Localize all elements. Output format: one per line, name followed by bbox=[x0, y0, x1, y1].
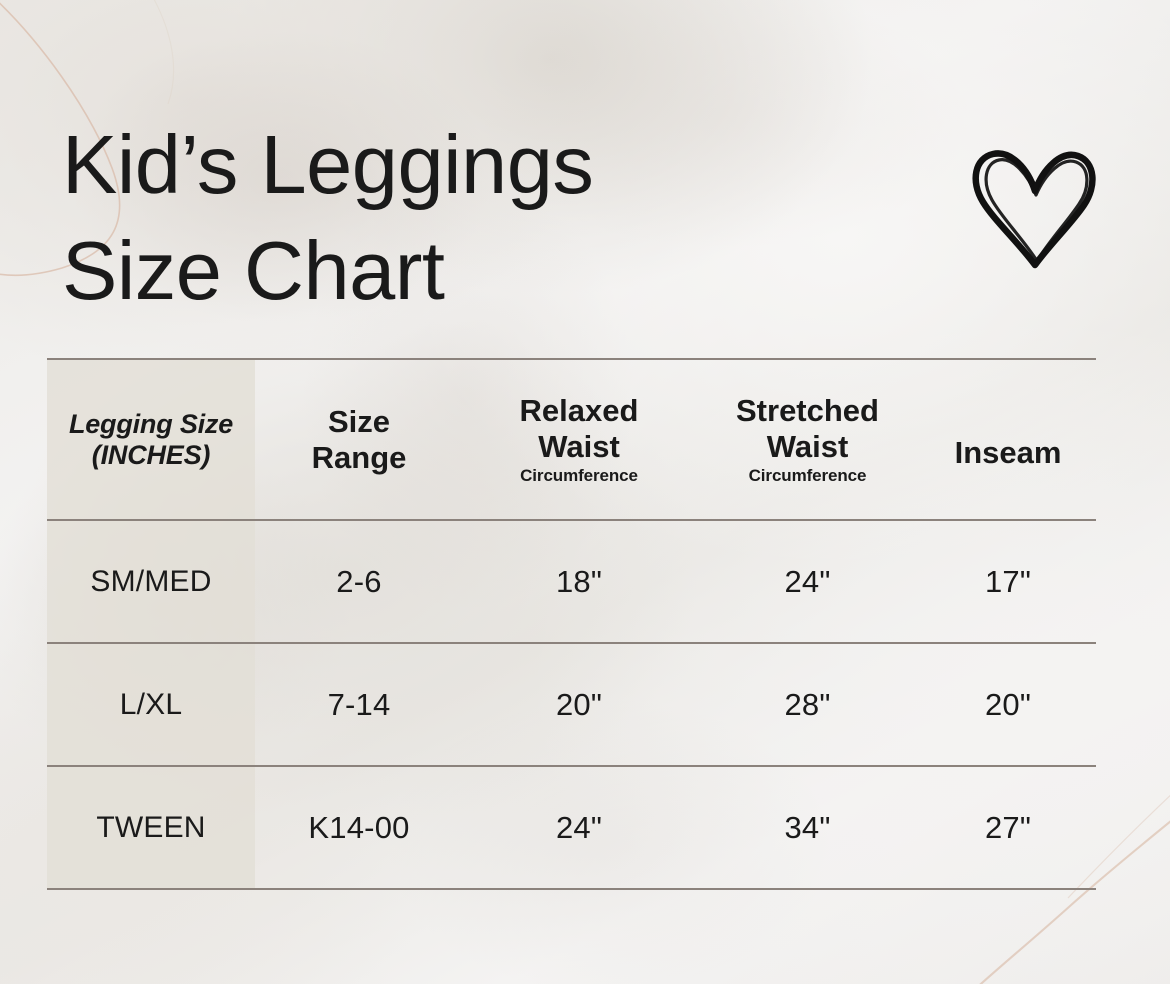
page-title: Kid’s Leggings Size Chart bbox=[62, 112, 822, 324]
cell-relaxed-waist: 18" bbox=[463, 520, 695, 643]
header-main-text: Inseam bbox=[955, 435, 1062, 470]
cell-relaxed-waist: 24" bbox=[463, 766, 695, 889]
title-line-1: Kid’s Leggings bbox=[62, 112, 822, 218]
cell-stretched-waist: 34" bbox=[695, 766, 920, 889]
cell-inseam: 27" bbox=[920, 766, 1096, 889]
header-main-text: Stretched bbox=[736, 393, 879, 428]
column-header-relaxed-waist: Relaxed Waist Circumference bbox=[463, 359, 695, 520]
column-header-size-range: Size Range bbox=[255, 359, 463, 520]
cell-legging-size: L/XL bbox=[47, 643, 255, 766]
header-second-text: Waist bbox=[767, 429, 849, 464]
cell-legging-size: TWEEN bbox=[47, 766, 255, 889]
table-row: SM/MED 2-6 18" 24" 17" bbox=[47, 520, 1096, 643]
header-main-text: Legging Size bbox=[69, 409, 233, 439]
table-row: TWEEN K14-00 24" 34" 27" bbox=[47, 766, 1096, 889]
column-header-legging-size: Legging Size (INCHES) bbox=[47, 359, 255, 520]
header-second-text: Range bbox=[312, 440, 407, 475]
table-row: L/XL 7-14 20" 28" 20" bbox=[47, 643, 1096, 766]
header-main-text: Relaxed bbox=[520, 393, 639, 428]
header-main-text: Size bbox=[328, 404, 390, 439]
cell-relaxed-waist: 20" bbox=[463, 643, 695, 766]
heart-icon bbox=[966, 142, 1106, 277]
header-sub-text: Circumference bbox=[463, 466, 695, 485]
header-sub-text: Circumference bbox=[695, 466, 920, 485]
title-line-2: Size Chart bbox=[62, 218, 822, 324]
cell-legging-size: SM/MED bbox=[47, 520, 255, 643]
cell-stretched-waist: 28" bbox=[695, 643, 920, 766]
column-header-inseam: Inseam bbox=[920, 359, 1096, 520]
size-chart-table: Legging Size (INCHES) Size Range Relaxed… bbox=[47, 358, 1096, 890]
size-chart-page: Kid’s Leggings Size Chart Legging Size (… bbox=[0, 0, 1170, 984]
cell-stretched-waist: 24" bbox=[695, 520, 920, 643]
cell-size-range: 2-6 bbox=[255, 520, 463, 643]
column-header-stretched-waist: Stretched Waist Circumference bbox=[695, 359, 920, 520]
header-second-text: Waist bbox=[538, 429, 620, 464]
cell-size-range: 7-14 bbox=[255, 643, 463, 766]
cell-size-range: K14-00 bbox=[255, 766, 463, 889]
cell-inseam: 17" bbox=[920, 520, 1096, 643]
header-second-text: (INCHES) bbox=[92, 440, 210, 470]
cell-inseam: 20" bbox=[920, 643, 1096, 766]
table-header-row: Legging Size (INCHES) Size Range Relaxed… bbox=[47, 359, 1096, 520]
